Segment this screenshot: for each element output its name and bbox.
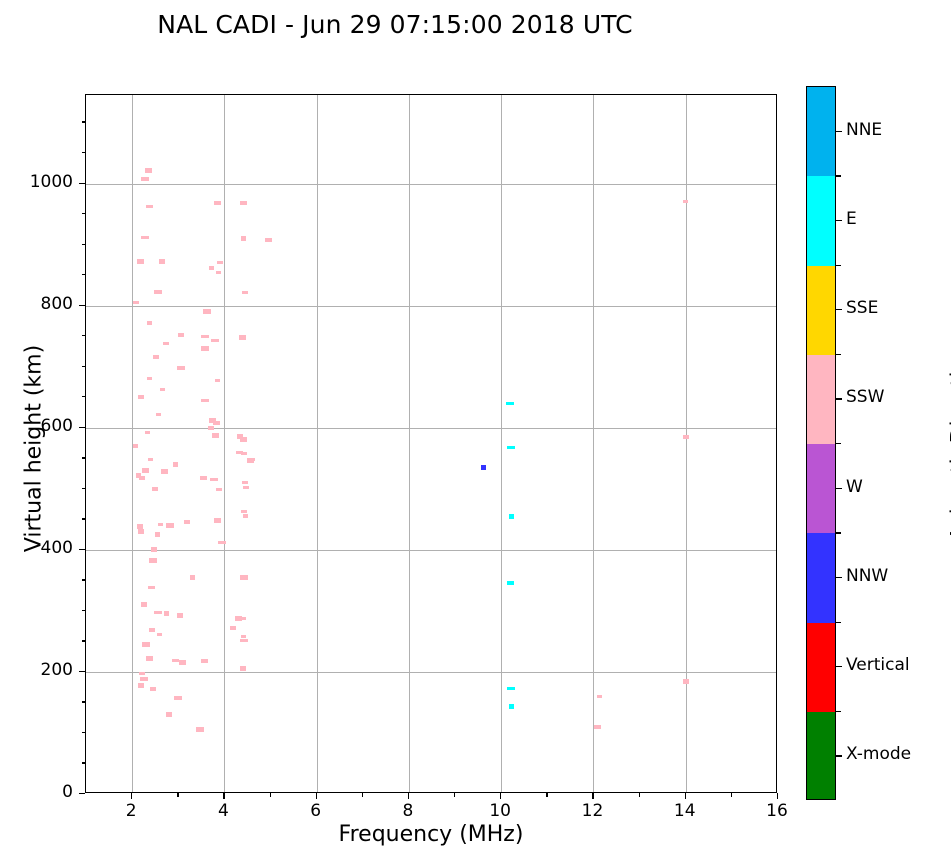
y-tick-mark (79, 549, 85, 550)
data-point-ssw (241, 236, 246, 241)
data-point-ssw (142, 468, 149, 473)
colorbar-title: Azimuth Direction (948, 93, 951, 793)
data-point-ssw (133, 301, 139, 304)
data-point-ssw (161, 469, 168, 474)
data-point-e (507, 446, 515, 449)
data-point-ssw (243, 514, 248, 518)
gridline-horizontal (86, 184, 776, 185)
gridline-horizontal (86, 306, 776, 307)
x-tick-label: 6 (286, 801, 346, 821)
colorbar-tick (836, 309, 842, 310)
data-point-ssw (148, 458, 153, 461)
data-point-ssw (174, 696, 182, 700)
data-point-ssw (138, 529, 144, 534)
colorbar-boundary-tick (836, 265, 841, 266)
data-point-nnw (481, 465, 486, 470)
x-tick-label: 8 (378, 801, 438, 821)
colorbar-label-vertical: Vertical (846, 655, 910, 675)
data-point-ssw (158, 523, 163, 526)
data-point-ssw (147, 377, 152, 380)
gridline-horizontal (86, 550, 776, 551)
y-tick-minor (82, 579, 86, 580)
data-point-ssw (153, 355, 159, 359)
data-point-ssw (154, 611, 162, 614)
data-point-ssw (215, 379, 220, 382)
colorbar-tick (836, 131, 842, 132)
y-tick-mark (79, 183, 85, 184)
colorbar-label-nnw: NNW (846, 566, 888, 586)
y-tick-minor (82, 610, 86, 611)
data-point-ssw (211, 339, 219, 342)
data-point-ssw (137, 259, 144, 264)
data-point-ssw (160, 388, 165, 391)
data-point-ssw (240, 666, 246, 671)
data-point-ssw (146, 656, 153, 661)
x-tick-minor (639, 793, 640, 797)
colorbar-segment-nnw[interactable] (807, 533, 835, 622)
plot-area[interactable] (85, 94, 777, 793)
data-point-ssw (242, 481, 248, 484)
data-point-ssw (139, 476, 145, 480)
data-point-ssw (152, 487, 158, 491)
y-tick-minor (82, 366, 86, 367)
gridline-vertical (501, 95, 502, 792)
data-point-ssw (683, 679, 689, 684)
x-tick-minor (270, 793, 271, 797)
data-point-ssw (141, 177, 149, 181)
colorbar-segment-nne[interactable] (807, 87, 835, 176)
x-tick-minor (454, 793, 455, 797)
data-point-ssw (240, 437, 247, 442)
colorbar-label-x-mode: X-mode (846, 744, 911, 764)
colorbar-tick (836, 488, 842, 489)
data-point-ssw (150, 687, 156, 691)
gridline-vertical (317, 95, 318, 792)
data-point-ssw (203, 309, 211, 314)
colorbar-tick (836, 755, 842, 756)
data-point-ssw (213, 421, 220, 425)
y-tick-minor (82, 518, 86, 519)
data-point-ssw (141, 236, 149, 239)
colorbar-label-sse: SSE (846, 298, 878, 318)
x-tick-label: 12 (562, 801, 622, 821)
data-point-ssw (240, 201, 247, 205)
colorbar-tick (836, 398, 842, 399)
data-point-ssw (241, 510, 247, 513)
data-point-ssw (239, 335, 246, 340)
x-tick-minor (546, 793, 547, 797)
data-point-ssw (141, 602, 147, 607)
colorbar[interactable] (806, 86, 836, 800)
data-point-ssw (242, 291, 248, 294)
data-point-ssw (240, 639, 248, 642)
data-point-ssw (201, 346, 209, 351)
x-tick-minor (362, 793, 363, 797)
data-point-ssw (217, 261, 223, 264)
y-tick-mark (79, 671, 85, 672)
y-tick-minor (82, 488, 86, 489)
data-point-ssw (265, 238, 272, 242)
data-point-ssw (146, 205, 153, 208)
data-point-ssw (177, 366, 185, 370)
data-point-e (509, 514, 514, 519)
data-point-ssw (214, 201, 221, 205)
data-point-ssw (157, 633, 162, 636)
data-point-ssw (154, 290, 162, 294)
x-tick-mark (408, 793, 409, 799)
data-point-ssw (208, 426, 214, 430)
data-point-ssw (201, 659, 208, 663)
data-point-ssw (216, 271, 221, 274)
colorbar-label-nne: NNE (846, 120, 882, 140)
colorbar-boundary-tick (836, 354, 841, 355)
y-tick-minor (82, 457, 86, 458)
data-point-ssw (145, 431, 150, 434)
data-point-ssw (683, 435, 689, 439)
y-tick-mark (79, 793, 85, 794)
data-point-ssw (214, 518, 221, 523)
colorbar-boundary-tick (836, 175, 841, 176)
data-point-ssw (178, 333, 184, 337)
x-tick-label: 16 (747, 801, 807, 821)
x-tick-mark (500, 793, 501, 799)
data-point-ssw (196, 727, 204, 732)
x-tick-mark (223, 793, 224, 799)
x-tick-label: 2 (101, 801, 161, 821)
x-tick-mark (592, 793, 593, 799)
colorbar-label-w: W (846, 477, 863, 497)
colorbar-tick (836, 577, 842, 578)
data-point-ssw (201, 399, 209, 402)
colorbar-boundary-tick (836, 711, 841, 712)
y-tick-minor (82, 121, 86, 122)
data-point-ssw (190, 575, 195, 580)
colorbar-tick (836, 220, 842, 221)
x-tick-label: 10 (470, 801, 530, 821)
x-tick-minor (177, 793, 178, 797)
data-point-ssw (151, 547, 157, 552)
y-tick-minor (82, 335, 86, 336)
data-point-ssw (240, 575, 248, 580)
y-tick-minor (82, 762, 86, 763)
data-point-ssw (597, 695, 602, 698)
x-tick-label: 14 (655, 801, 715, 821)
data-point-ssw (166, 712, 172, 717)
y-tick-minor (82, 640, 86, 641)
data-point-ssw (210, 478, 218, 481)
data-point-ssw (241, 635, 246, 638)
gridline-vertical (409, 95, 410, 792)
colorbar-segment-ssw[interactable] (807, 355, 835, 444)
data-point-ssw (163, 342, 169, 345)
data-point-e (509, 704, 514, 709)
x-tick-mark (777, 793, 778, 799)
data-point-ssw (155, 532, 160, 537)
data-point-ssw (184, 520, 190, 524)
data-point-ssw (140, 677, 148, 681)
y-tick-minor (82, 274, 86, 275)
data-point-ssw (133, 444, 138, 448)
data-point-ssw (218, 541, 226, 544)
data-point-ssw (156, 413, 161, 416)
y-tick-minor (82, 732, 86, 733)
x-axis-label: Frequency (MHz) (85, 822, 777, 847)
y-tick-mark (79, 305, 85, 306)
colorbar-boundary-tick (836, 532, 841, 533)
ionogram-figure: NAL CADI - Jun 29 07:15:00 2018 UTC 2468… (0, 0, 951, 856)
data-point-ssw (209, 266, 214, 270)
data-point-ssw (138, 683, 144, 688)
gridline-vertical (593, 95, 594, 792)
data-point-ssw (166, 523, 174, 528)
data-point-e (507, 581, 514, 585)
colorbar-segment-e[interactable] (807, 176, 835, 265)
data-point-ssw (148, 586, 155, 589)
data-point-ssw (149, 558, 157, 563)
data-point-ssw (241, 452, 247, 455)
y-tick-mark (79, 427, 85, 428)
data-point-ssw (139, 672, 145, 675)
colorbar-label-e: E (846, 209, 857, 229)
data-point-ssw (201, 335, 209, 338)
data-point-ssw (247, 460, 254, 463)
y-axis-label: Virtual height (km) (22, 99, 47, 799)
data-point-ssw (243, 486, 249, 489)
gridline-horizontal (86, 428, 776, 429)
data-point-ssw (147, 321, 152, 325)
x-tick-minor (731, 793, 732, 797)
data-point-ssw (145, 168, 152, 173)
x-tick-mark (131, 793, 132, 799)
page-title: NAL CADI - Jun 29 07:15:00 2018 UTC (0, 10, 790, 39)
data-point-e (507, 687, 515, 690)
data-point-ssw (239, 617, 246, 620)
y-tick-minor (82, 701, 86, 702)
colorbar-boundary-tick (836, 443, 841, 444)
data-point-ssw (138, 395, 144, 399)
x-tick-mark (316, 793, 317, 799)
data-point-ssw (173, 462, 178, 467)
data-point-ssw (179, 660, 186, 665)
y-tick-minor (82, 396, 86, 397)
data-point-ssw (142, 642, 150, 647)
data-point-ssw (159, 259, 165, 264)
gridline-vertical (224, 95, 225, 792)
data-point-ssw (164, 611, 169, 616)
data-point-ssw (683, 200, 688, 203)
data-point-ssw (216, 488, 222, 491)
colorbar-tick (836, 666, 842, 667)
data-point-ssw (230, 626, 236, 630)
colorbar-boundary-tick (836, 622, 841, 623)
data-point-e (506, 402, 514, 405)
gridline-horizontal (86, 672, 776, 673)
colorbar-segment-sse[interactable] (807, 266, 835, 355)
data-point-ssw (212, 433, 219, 438)
colorbar-segment-vertical[interactable] (807, 623, 835, 712)
x-tick-label: 4 (193, 801, 253, 821)
data-point-ssw (594, 725, 601, 729)
y-tick-minor (82, 152, 86, 153)
x-tick-mark (685, 793, 686, 799)
colorbar-label-ssw: SSW (846, 387, 884, 407)
data-point-ssw (149, 628, 155, 632)
colorbar-segment-w[interactable] (807, 444, 835, 533)
y-tick-minor (82, 213, 86, 214)
colorbar-segment-x-mode[interactable] (807, 712, 835, 800)
data-point-ssw (200, 476, 207, 480)
data-point-ssw (177, 613, 183, 618)
y-tick-minor (82, 244, 86, 245)
